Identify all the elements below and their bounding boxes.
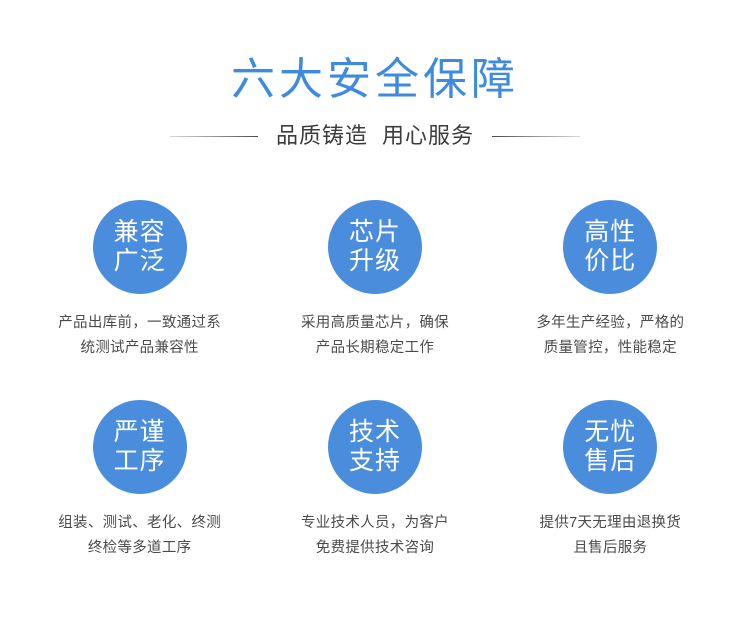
badge-text-line1: 严谨	[114, 418, 166, 447]
caption-line2: 产品长期稳定工作	[301, 336, 449, 361]
page-header: 六大安全保障 品质铸造用心服务	[0, 0, 750, 152]
badge-text-line1: 无忧	[584, 418, 636, 447]
feature-item-cost-performance: 高性 价比 多年生产经验，严格的 质量管控，性能稳定	[493, 200, 728, 400]
feature-caption: 专业技术人员，为客户 免费提供技术咨询	[301, 511, 449, 561]
subtitle-phrase-right: 用心服务	[382, 123, 474, 148]
caption-line2: 质量管控，性能稳定	[536, 336, 684, 361]
feature-item-tech-support: 技术 支持 专业技术人员，为客户 免费提供技术咨询	[257, 400, 492, 600]
feature-caption: 组装、测试、老化、终测 终检等多道工序	[58, 511, 221, 561]
page-subtitle: 品质铸造用心服务	[276, 121, 474, 151]
caption-line2: 终检等多道工序	[58, 536, 221, 561]
divider-line-right	[492, 136, 580, 137]
badge-text-line2: 广泛	[114, 247, 166, 276]
badge-text-line1: 芯片	[349, 218, 401, 247]
feature-caption: 产品出库前，一致通过系 统测试产品兼容性	[58, 311, 221, 361]
caption-line1: 提供7天无理由退换货	[540, 511, 682, 536]
feature-badge-circle: 无忧 售后	[563, 400, 657, 494]
caption-line1: 专业技术人员，为客户	[301, 511, 449, 536]
feature-caption: 提供7天无理由退换货 且售后服务	[540, 511, 682, 561]
badge-text-line2: 价比	[584, 247, 636, 276]
feature-item-rigorous-process: 严谨 工序 组装、测试、老化、终测 终检等多道工序	[22, 400, 257, 600]
badge-text-line1: 兼容	[114, 218, 166, 247]
badge-text-line1: 高性	[584, 218, 636, 247]
caption-line2: 且售后服务	[540, 536, 682, 561]
badge-text-line2: 售后	[584, 447, 636, 476]
feature-badge-circle: 兼容 广泛	[93, 200, 187, 294]
caption-line2: 统测试产品兼容性	[58, 336, 221, 361]
subtitle-row: 品质铸造用心服务	[0, 120, 750, 152]
caption-line1: 组装、测试、老化、终测	[58, 511, 221, 536]
badge-text-line1: 技术	[349, 418, 401, 447]
caption-line1: 采用高质量芯片，确保	[301, 311, 449, 336]
feature-item-compatibility: 兼容 广泛 产品出库前，一致通过系 统测试产品兼容性	[22, 200, 257, 400]
badge-text-line2: 升级	[349, 247, 401, 276]
feature-item-after-sales: 无忧 售后 提供7天无理由退换货 且售后服务	[493, 400, 728, 600]
feature-item-chip-upgrade: 芯片 升级 采用高质量芯片，确保 产品长期稳定工作	[257, 200, 492, 400]
caption-line1: 多年生产经验，严格的	[536, 311, 684, 336]
promo-page: 六大安全保障 品质铸造用心服务 兼容 广泛 产品出库前，一致通过系 统测试产品兼…	[0, 0, 750, 620]
feature-caption: 采用高质量芯片，确保 产品长期稳定工作	[301, 311, 449, 361]
badge-text-line2: 支持	[349, 447, 401, 476]
feature-caption: 多年生产经验，严格的 质量管控，性能稳定	[536, 311, 684, 361]
badge-text-line2: 工序	[114, 447, 166, 476]
divider-line-left	[170, 136, 258, 137]
feature-badge-circle: 严谨 工序	[93, 400, 187, 494]
caption-line1: 产品出库前，一致通过系	[58, 311, 221, 336]
subtitle-phrase-left: 品质铸造	[276, 123, 368, 148]
caption-line2: 免费提供技术咨询	[301, 536, 449, 561]
feature-badge-circle: 高性 价比	[563, 200, 657, 294]
feature-badge-circle: 技术 支持	[328, 400, 422, 494]
feature-grid: 兼容 广泛 产品出库前，一致通过系 统测试产品兼容性 芯片 升级 采用高质量芯片…	[0, 200, 750, 600]
feature-badge-circle: 芯片 升级	[328, 200, 422, 294]
page-title: 六大安全保障	[0, 52, 750, 108]
